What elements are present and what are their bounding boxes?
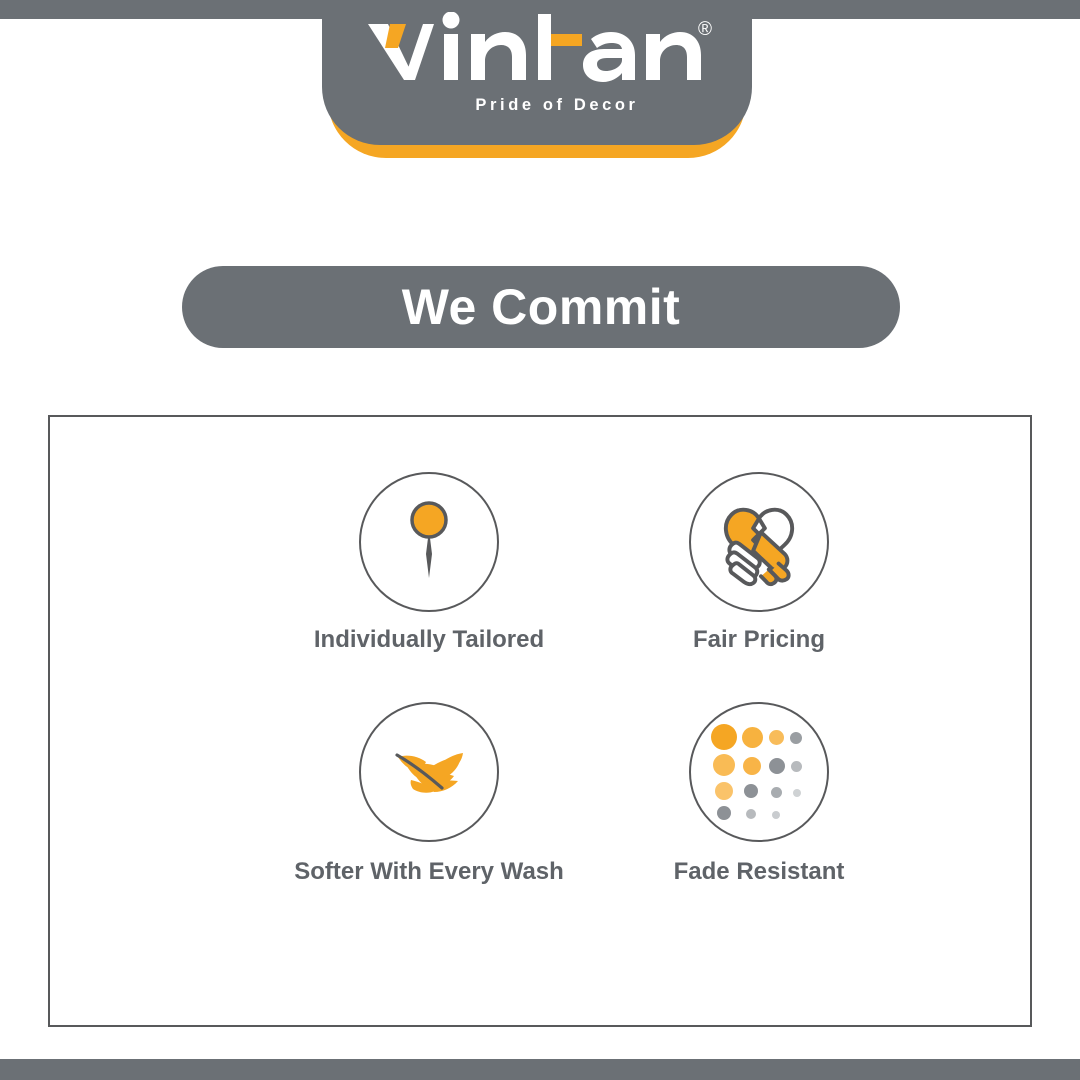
headline-banner: We Commit: [182, 266, 900, 348]
vintana-wordmark: [368, 12, 708, 94]
brand-tagline: Pride of Decor: [322, 96, 752, 115]
feature-icon-circle: [689, 472, 829, 612]
feature-icon-circle: [689, 702, 829, 842]
feature-item-softer-with-every-wash: Softer With Every Wash: [264, 702, 594, 932]
feature-label: Fade Resistant: [674, 858, 845, 886]
feature-label: Fair Pricing: [693, 626, 825, 654]
features-panel: Individually Tailored: [48, 415, 1032, 1027]
feature-icon-circle: [359, 472, 499, 612]
feature-grid: Individually Tailored: [264, 472, 924, 932]
bottom-accent-bar: [0, 1059, 1080, 1080]
registered-trademark-icon: ®: [698, 20, 712, 39]
feature-item-fade-resistant: Fade Resistant: [594, 702, 924, 932]
feature-item-individually-tailored: Individually Tailored: [264, 472, 594, 702]
feature-icon-circle: [359, 702, 499, 842]
feature-item-fair-pricing: Fair Pricing: [594, 472, 924, 702]
handshake-heart-icon: [710, 493, 808, 591]
brand-logo-tab: ® Pride of Decor: [322, 0, 752, 158]
feather-icon: [379, 722, 479, 822]
feature-label: Individually Tailored: [314, 626, 544, 654]
headline-text: We Commit: [402, 278, 681, 336]
push-pin-icon: [381, 494, 477, 590]
feature-label: Softer With Every Wash: [294, 858, 564, 886]
fading-dot-grid-icon: [709, 722, 809, 822]
